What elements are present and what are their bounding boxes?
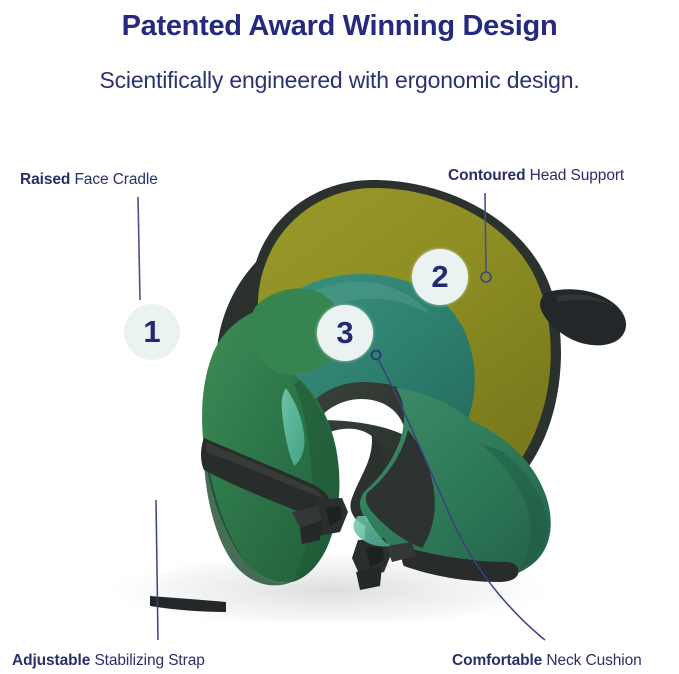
product-infographic: Patented Award Winning Design Scientific… [0,0,679,674]
leader-line-strap [156,500,158,640]
callout-label-stabilizing-strap-lead: Adjustable [12,652,90,669]
leader-endpoint-head-support [481,272,491,282]
callout-label-face-cradle-rest: Face Cradle [70,171,158,188]
callout-badge-3[interactable]: 3 [317,305,373,361]
leader-line-face-cradle [138,197,140,300]
callout-label-stabilizing-strap-rest: Stabilizing Strap [90,652,205,669]
callout-label-face-cradle-lead: Raised [20,171,70,188]
callout-badge-2[interactable]: 2 [412,249,468,305]
callout-label-stabilizing-strap: Adjustable Stabilizing Strap [12,651,205,671]
callout-label-neck-cushion-lead: Comfortable [452,652,542,669]
leader-endpoint-neck-cushion [372,351,381,360]
callout-label-head-support: Contoured Head Support [448,166,624,186]
callout-badge-1[interactable]: 1 [124,304,180,360]
callout-label-face-cradle: Raised Face Cradle [20,170,158,190]
callout-label-head-support-rest: Head Support [525,167,624,184]
leader-line-neck-cushion [378,359,545,640]
leader-line-head-support [485,193,486,272]
callout-label-neck-cushion-rest: Neck Cushion [542,652,642,669]
callout-label-neck-cushion: Comfortable Neck Cushion [452,651,642,671]
callout-label-head-support-lead: Contoured [448,167,525,184]
